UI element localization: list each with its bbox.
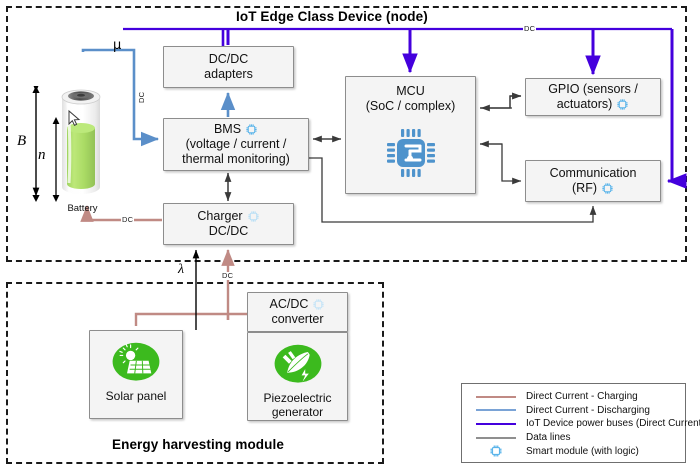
piezo-caption-line1: Piezoelectric (263, 391, 331, 405)
legend-label: Smart module (with logic) (520, 446, 639, 457)
diagram-canvas: IoT Edge Class Device (node) Energy harv… (0, 0, 700, 472)
block-solar-panel[interactable]: Solar panel (89, 330, 183, 419)
smart-module-chip-icon (247, 210, 260, 223)
measure-label-B: B (17, 133, 26, 150)
gpio-line2: actuators) (557, 97, 613, 112)
battery-label: Battery (55, 203, 110, 214)
acdc-line2: converter (271, 312, 323, 327)
legend-swatch-power-bus (472, 423, 520, 425)
legend-item: IoT Device power buses (Direct Current) (462, 417, 685, 431)
block-bms[interactable]: BMS (voltage / current / thermal monitor… (163, 118, 309, 171)
legend-label: Data lines (520, 432, 570, 443)
wire-label-bus-dc: DC (523, 25, 536, 33)
mcu-line2: (SoC / complex) (366, 99, 456, 114)
legend-label: Direct Current - Discharging (520, 405, 650, 416)
block-mcu[interactable]: MCU (SoC / complex) (345, 76, 476, 194)
block-acdc-converter[interactable]: AC/DC converter (247, 292, 348, 332)
wire-label-discharge-dc: DC (138, 91, 146, 104)
wire-label-charge-dc-top: DC (121, 216, 134, 224)
dcdc-adapters-line2: adapters (204, 67, 253, 82)
legend-item: Data lines (462, 431, 685, 445)
piezoelectric-icon (271, 343, 325, 388)
legend-panel: Direct Current - Charging Direct Current… (461, 383, 686, 463)
legend-label: Direct Current - Charging (520, 391, 638, 402)
microchip-icon (379, 121, 443, 185)
legend-list: Direct Current - Charging Direct Current… (462, 384, 685, 458)
charger-line1: Charger (197, 209, 242, 224)
mu-label: μ (113, 38, 121, 53)
wire-label-charge-dc-bottom: DC (221, 272, 234, 280)
legend-item: Smart module (with logic) (462, 444, 685, 458)
mcu-line1: MCU (396, 84, 424, 99)
legend-swatch-discharging (472, 409, 520, 411)
block-piezoelectric-generator[interactable]: Piezoelectric generator (247, 332, 348, 421)
smart-module-chip-icon (312, 298, 325, 311)
legend-item: Direct Current - Charging (462, 390, 685, 404)
block-dcdc-adapters[interactable]: DC/DC adapters (163, 46, 294, 88)
smart-module-chip-icon (245, 123, 258, 136)
smart-module-chip-icon (616, 98, 629, 111)
legend-swatch-smart-module (472, 444, 520, 458)
bms-line3: thermal monitoring) (182, 152, 290, 167)
battery-level-measure (50, 117, 62, 202)
lambda-label: λ (178, 262, 184, 278)
gpio-line1: GPIO (sensors / (548, 82, 638, 97)
legend-swatch-charging (472, 396, 520, 398)
charger-line2: DC/DC (209, 224, 249, 239)
bms-line1: BMS (214, 122, 241, 137)
communication-line1: Communication (550, 166, 637, 181)
communication-line2: (RF) (572, 181, 597, 196)
block-communication[interactable]: Communication (RF) (525, 160, 661, 202)
smart-module-chip-icon (601, 182, 614, 195)
battery-total-measure (30, 86, 42, 202)
legend-label: IoT Device power buses (Direct Current) (520, 418, 700, 429)
measure-label-n: n (38, 147, 46, 164)
solar-panel-icon (109, 341, 163, 386)
block-charger-dcdc[interactable]: Charger DC/DC (163, 203, 294, 245)
solar-panel-caption: Solar panel (106, 389, 167, 403)
battery-illustration (57, 83, 105, 201)
dcdc-adapters-line1: DC/DC (209, 52, 249, 67)
legend-item: Direct Current - Discharging (462, 404, 685, 418)
acdc-line1: AC/DC (270, 297, 309, 312)
legend-swatch-data (472, 437, 520, 439)
smart-module-chip-icon (489, 444, 503, 458)
piezo-caption-line2: generator (272, 405, 323, 419)
block-gpio[interactable]: GPIO (sensors / actuators) (525, 78, 661, 116)
bms-line2: (voltage / current / (186, 137, 287, 152)
